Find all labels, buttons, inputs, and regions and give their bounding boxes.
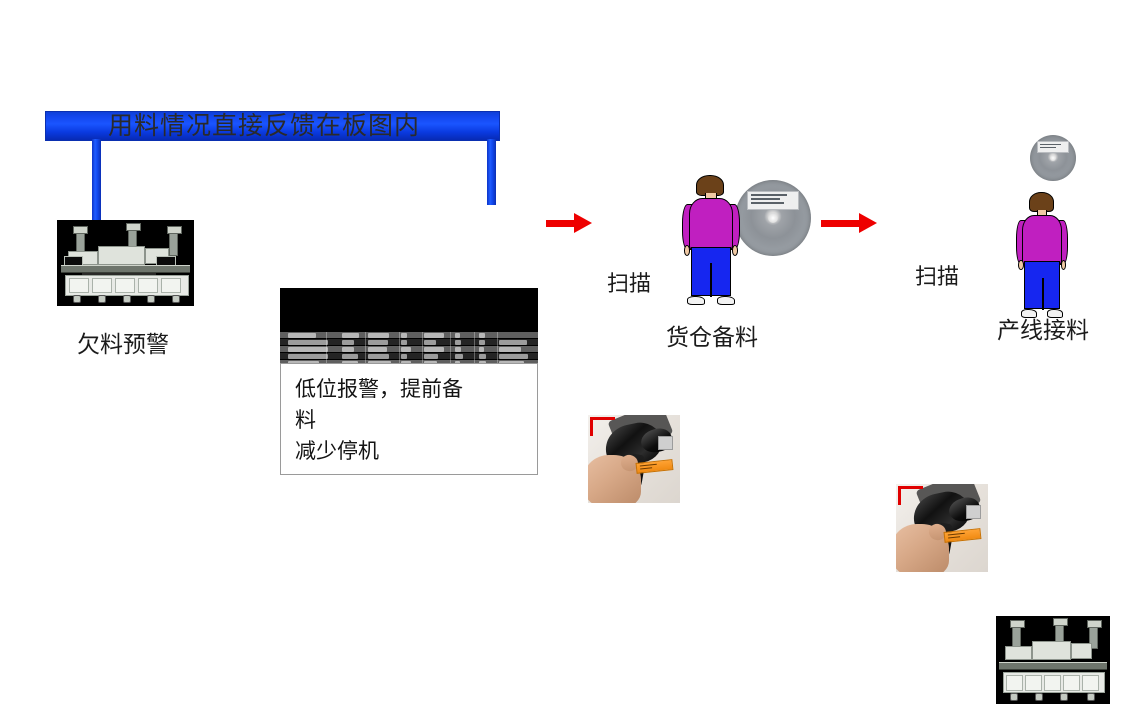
board-cell-text [455, 354, 463, 359]
arrow-head [574, 213, 592, 233]
machine-base-cell [115, 278, 136, 294]
banner-title: 用料情况直接反馈在板图内 [108, 108, 508, 144]
board-cell-text [479, 333, 486, 338]
board-cell-text [401, 333, 407, 338]
machine-head [1032, 641, 1071, 660]
warehouse-operator-figure [683, 175, 739, 305]
board-cell-text [288, 354, 328, 359]
machine-base-cell [161, 278, 182, 294]
machine-rail [999, 662, 1106, 670]
machine-wheel [1035, 693, 1043, 701]
step-label-shortage-alert: 欠料预警 [77, 325, 169, 359]
machine-base-cell [1063, 675, 1080, 691]
machine-wheel [1087, 693, 1095, 701]
board-header-black [280, 288, 538, 332]
figure-hand-right [1061, 260, 1067, 270]
scanner-wall-tag [966, 505, 981, 519]
board-note-box: 低位报警，提前备 料 减少停机 [280, 363, 538, 475]
machine-base-cell [1025, 675, 1042, 691]
machine-head [98, 246, 145, 265]
board-cell-text [424, 354, 438, 359]
board-note-line: 料 [295, 405, 525, 436]
board-cell-text [479, 347, 485, 352]
material-reel-2 [1030, 135, 1076, 181]
machine-wheel [123, 295, 131, 303]
machine-wheel [147, 295, 155, 303]
arrow-shaft [546, 220, 576, 227]
figure-hand-left [1018, 260, 1024, 270]
arrow-shaft [821, 220, 861, 227]
board-cell-text [342, 333, 359, 338]
board-cell-text [479, 354, 487, 359]
figure-shirt [689, 198, 734, 250]
figure-leg-split [710, 263, 712, 297]
machine-base-cell [1044, 675, 1061, 691]
board-cell-text [288, 347, 328, 352]
figure-shoe-right [717, 296, 735, 305]
board-cell-text [368, 347, 387, 352]
board-cell-text [455, 333, 460, 338]
board-cell-text [342, 340, 354, 345]
machine-post-top [73, 226, 88, 234]
machine-base-cell [1082, 675, 1099, 691]
board-cell-text [368, 354, 389, 359]
machine-wheel [172, 295, 180, 303]
board-cell-text [368, 333, 390, 338]
machine-base [65, 275, 188, 296]
board-cell-text [499, 354, 528, 359]
board-cell-text [342, 347, 354, 352]
scan-label-line: 扫描 [915, 259, 959, 291]
machine-wheel [1010, 693, 1018, 701]
machine-base-cell [138, 278, 159, 294]
reel-sticker [1037, 141, 1068, 153]
red-corner-marker [590, 417, 615, 436]
board-cell-text [499, 347, 520, 352]
board-cell-text [288, 333, 316, 338]
machine-head [1005, 646, 1032, 660]
machine-wheel [73, 295, 81, 303]
material-reel-1 [735, 180, 811, 256]
figure-shoe-left [687, 296, 705, 305]
board-cell-text [401, 354, 407, 359]
reel-hub [1050, 155, 1056, 161]
board-row [280, 346, 538, 352]
board-cell-text [455, 347, 460, 352]
board-row [280, 353, 538, 359]
machine-post-top [1053, 618, 1068, 626]
figure-hand-right [732, 245, 738, 255]
board-cell-text [479, 340, 485, 345]
flow-arrow-2 [821, 217, 881, 229]
board-cell-text [342, 354, 358, 359]
board-cell-text [424, 340, 435, 345]
board-row [280, 332, 538, 338]
scan-label-warehouse: 扫描 [607, 266, 651, 298]
board-cell-text [424, 333, 443, 338]
board-cell-text [401, 340, 407, 345]
machine-base [1003, 672, 1106, 693]
barcode-scanner-image [588, 415, 680, 503]
smt-machine-image-2 [996, 616, 1110, 704]
banner-connector-right [487, 139, 496, 205]
smt-machine-image [57, 220, 194, 306]
step-label-warehouse-pick: 货仓备料 [666, 318, 758, 352]
machine-rail [61, 265, 190, 273]
figure-leg-split [1042, 278, 1044, 311]
machine-post-top [1087, 620, 1102, 628]
board-cell-text [288, 340, 328, 345]
diagram-canvas: 用料情况直接反馈在板图内 欠料预警 [0, 0, 1132, 486]
machine-post-top [167, 226, 182, 234]
barcode-scanner-image-2 [896, 484, 988, 572]
red-corner-marker [898, 486, 923, 505]
machine-base-cell [69, 278, 90, 294]
machine-base-cell [92, 278, 113, 294]
machine-post-top [126, 223, 141, 231]
scanner-wall-tag [658, 436, 673, 450]
reel-hub [768, 213, 779, 224]
figure-hand-left [684, 245, 690, 255]
line-operator-figure [1017, 192, 1067, 318]
machine-wheel [1060, 693, 1068, 701]
arrow-head [859, 213, 877, 233]
board-note-line: 低位报警，提前备 [295, 374, 525, 405]
board-note-line: 减少停机 [295, 436, 525, 467]
machine-head [1071, 643, 1092, 659]
flow-arrow-1 [546, 217, 592, 229]
board-row [280, 339, 538, 345]
machine-base-cell [1006, 675, 1023, 691]
reel-sticker [747, 191, 799, 211]
board-cell-text [455, 340, 461, 345]
figure-shirt [1022, 215, 1062, 265]
board-cell-text [499, 340, 527, 345]
machine-post-top [1010, 620, 1025, 628]
board-cell-text [401, 347, 410, 352]
board-cell-text [424, 347, 443, 352]
machine-wheel [98, 295, 106, 303]
banner-connector-left [92, 139, 101, 223]
step-label-line-feed: 产线接料 [997, 311, 1089, 345]
board-cell-text [368, 340, 388, 345]
